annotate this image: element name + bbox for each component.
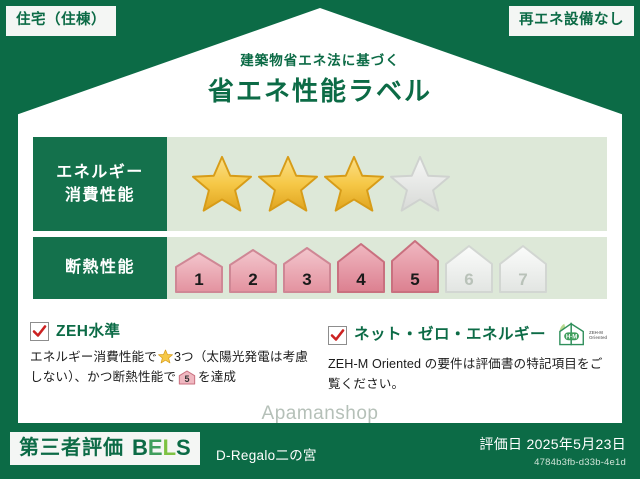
check-icon bbox=[32, 324, 47, 339]
row-energy-label: エネルギー 消費性能 bbox=[33, 137, 167, 231]
insulation-step-3: 3 bbox=[281, 243, 333, 295]
bels-badge: 第三者評価 BELS bbox=[10, 432, 200, 465]
bels-letter-s: S bbox=[176, 435, 191, 460]
star-rating bbox=[167, 154, 451, 214]
row-energy-value bbox=[167, 137, 607, 231]
note-zeh-title: ZEH水準 bbox=[56, 324, 121, 340]
row-insulation-label-line1: 断熱性能 bbox=[65, 256, 135, 279]
checkbox-net-zero-energy[interactable] bbox=[328, 326, 347, 345]
row-energy-performance: エネルギー 消費性能 bbox=[33, 137, 607, 231]
zeh-m-logo-caption: ZEH-M Oriented bbox=[589, 330, 607, 340]
insulation-step-5-number: 5 bbox=[389, 271, 441, 288]
zeh-m-caption-line2: Oriented bbox=[589, 335, 607, 340]
insulation-badge-inline: 5 bbox=[178, 369, 196, 385]
note-nze-title: ネット・ゼロ・エネルギー bbox=[354, 327, 546, 343]
note-zeh-body: エネルギー消費性能で 3つ（太陽光発電は考慮しない）、かつ断熱性能で 5 を達成 bbox=[30, 347, 312, 388]
note-nze-header: ネット・ゼロ・エネルギー H·M ZEH-M Oriented bbox=[328, 322, 610, 348]
insulation-step-3-number: 3 bbox=[281, 271, 333, 288]
title-subtitle: 建築物省エネ法に基づく bbox=[0, 54, 640, 68]
row-energy-label-line2: 消費性能 bbox=[65, 184, 135, 207]
insulation-step-4: 4 bbox=[335, 240, 387, 295]
insulation-step-1: 1 bbox=[173, 247, 225, 295]
insulation-grade-scale: 1 2 3 bbox=[167, 238, 549, 298]
insulation-step-2-number: 2 bbox=[227, 271, 279, 288]
building-name: D-Regalo二の宮 bbox=[216, 449, 317, 463]
note-net-zero-energy: ネット・ゼロ・エネルギー H·M ZEH-M Oriented ZEH-M bbox=[328, 322, 610, 395]
insulation-step-6: 6 bbox=[443, 242, 495, 295]
bels-logo-text: BELS bbox=[132, 437, 191, 459]
label-title-block: 建築物省エネ法に基づく 省エネ性能ラベル bbox=[0, 54, 640, 104]
note-nze-body: ZEH-M Oriented の要件は評価書の特記項目をご覧ください。 bbox=[328, 354, 610, 395]
check-icon bbox=[330, 328, 345, 343]
insulation-step-4-number: 4 bbox=[335, 271, 387, 288]
label-footer: 第三者評価 BELS D-Regalo二の宮 評価日 2025年5月23日 47… bbox=[0, 423, 640, 479]
insulation-step-6-number: 6 bbox=[443, 271, 495, 288]
bels-letter-b: B bbox=[132, 435, 148, 460]
insulation-badge-inline-number: 5 bbox=[178, 375, 196, 384]
note-zeh-body-part1: エネルギー消費性能で bbox=[30, 350, 157, 364]
bels-letter-e: E bbox=[148, 435, 163, 460]
star-icon-empty-4 bbox=[389, 154, 451, 214]
row-insulation-performance: 断熱性能 1 bbox=[33, 237, 607, 299]
svg-text:H·M: H·M bbox=[566, 334, 577, 340]
evaluation-date: 評価日 2025年5月23日 bbox=[479, 437, 626, 451]
insulation-step-5: 5 bbox=[389, 238, 441, 295]
energy-performance-label: 住宅（住棟） 再エネ設備なし 建築物省エネ法に基づく 省エネ性能ラベル エネルギ… bbox=[0, 0, 640, 479]
star-icon-filled-3 bbox=[323, 154, 385, 214]
note-zeh-standard: ZEH水準 エネルギー消費性能で 3つ（太陽光発電は考慮しない）、かつ断熱性能で… bbox=[30, 322, 312, 395]
star-icon-inline bbox=[158, 349, 173, 364]
zeh-m-house-icon: H·M bbox=[557, 322, 587, 348]
notes-section: ZEH水準 エネルギー消費性能で 3つ（太陽光発電は考慮しない）、かつ断熱性能で… bbox=[30, 322, 610, 395]
insulation-step-2: 2 bbox=[227, 245, 279, 295]
insulation-step-1-number: 1 bbox=[173, 271, 225, 288]
star-icon-filled-2 bbox=[257, 154, 319, 214]
row-insulation-label: 断熱性能 bbox=[33, 237, 167, 299]
row-energy-label-line1: エネルギー bbox=[56, 161, 144, 184]
insulation-step-7-number: 7 bbox=[497, 271, 549, 288]
star-icon-filled-1 bbox=[191, 154, 253, 214]
performance-rows: エネルギー 消費性能 bbox=[33, 137, 607, 305]
zeh-m-oriented-logo: H·M ZEH-M Oriented bbox=[557, 322, 607, 348]
insulation-step-7: 7 bbox=[497, 242, 549, 295]
bels-letter-l: L bbox=[163, 435, 176, 460]
page-title: 省エネ性能ラベル bbox=[0, 78, 640, 104]
evaluation-code: 4784b3fb-d33b-4e1d bbox=[534, 458, 626, 468]
checkbox-zeh-standard[interactable] bbox=[30, 322, 49, 341]
note-zeh-header: ZEH水準 bbox=[30, 322, 312, 341]
chip-renewable-energy: 再エネ設備なし bbox=[509, 6, 634, 36]
row-insulation-value: 1 2 3 bbox=[167, 237, 607, 299]
chip-building-type: 住宅（住棟） bbox=[6, 6, 116, 36]
bels-third-party-text: 第三者評価 bbox=[19, 438, 124, 458]
note-zeh-body-part3: を達成 bbox=[198, 370, 236, 384]
